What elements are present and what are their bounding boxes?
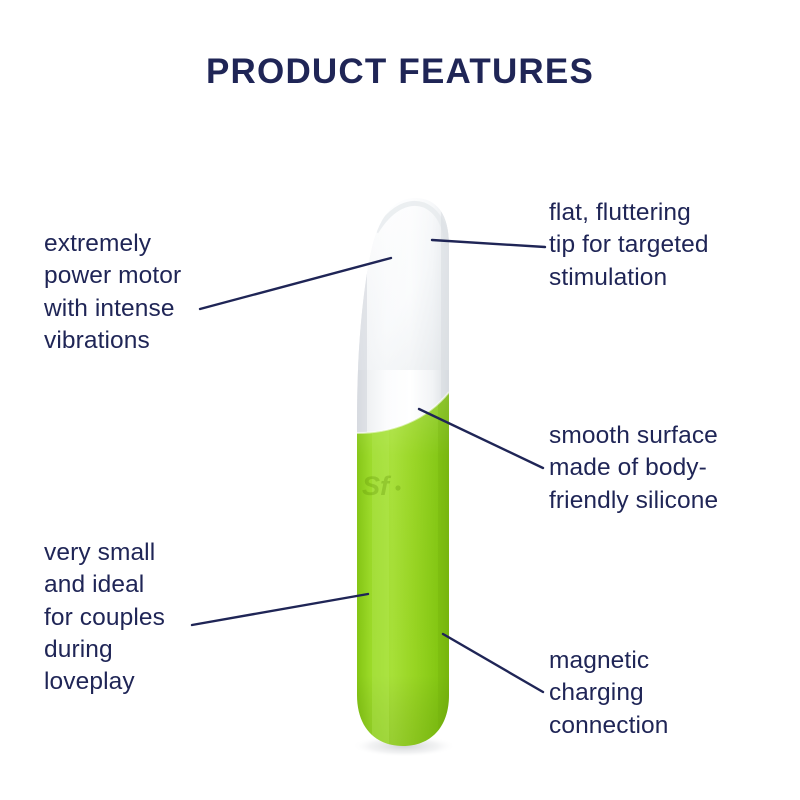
product-features-page: PRODUCT FEATURES: [0, 0, 800, 800]
callout-surface: smooth surface made of body- friendly si…: [549, 420, 781, 517]
leader-line-tip: [432, 240, 545, 247]
svg-text:Sf: Sf: [362, 471, 392, 501]
brand-logo-sf: Sf: [362, 471, 401, 501]
callout-motor: extremely power motor with intense vibra…: [44, 228, 249, 357]
callout-charging: magnetic charging connection: [549, 645, 769, 742]
leader-line-charging: [443, 634, 543, 692]
callout-small: very small and ideal for couples during …: [44, 537, 244, 699]
product-body-green: [357, 392, 450, 750]
product-shadow: [352, 735, 456, 757]
callout-tip: flat, fluttering tip for targeted stimul…: [549, 197, 774, 294]
leader-line-surface: [419, 409, 543, 468]
product-tip-white: [355, 198, 451, 438]
page-title: PRODUCT FEATURES: [0, 52, 800, 92]
